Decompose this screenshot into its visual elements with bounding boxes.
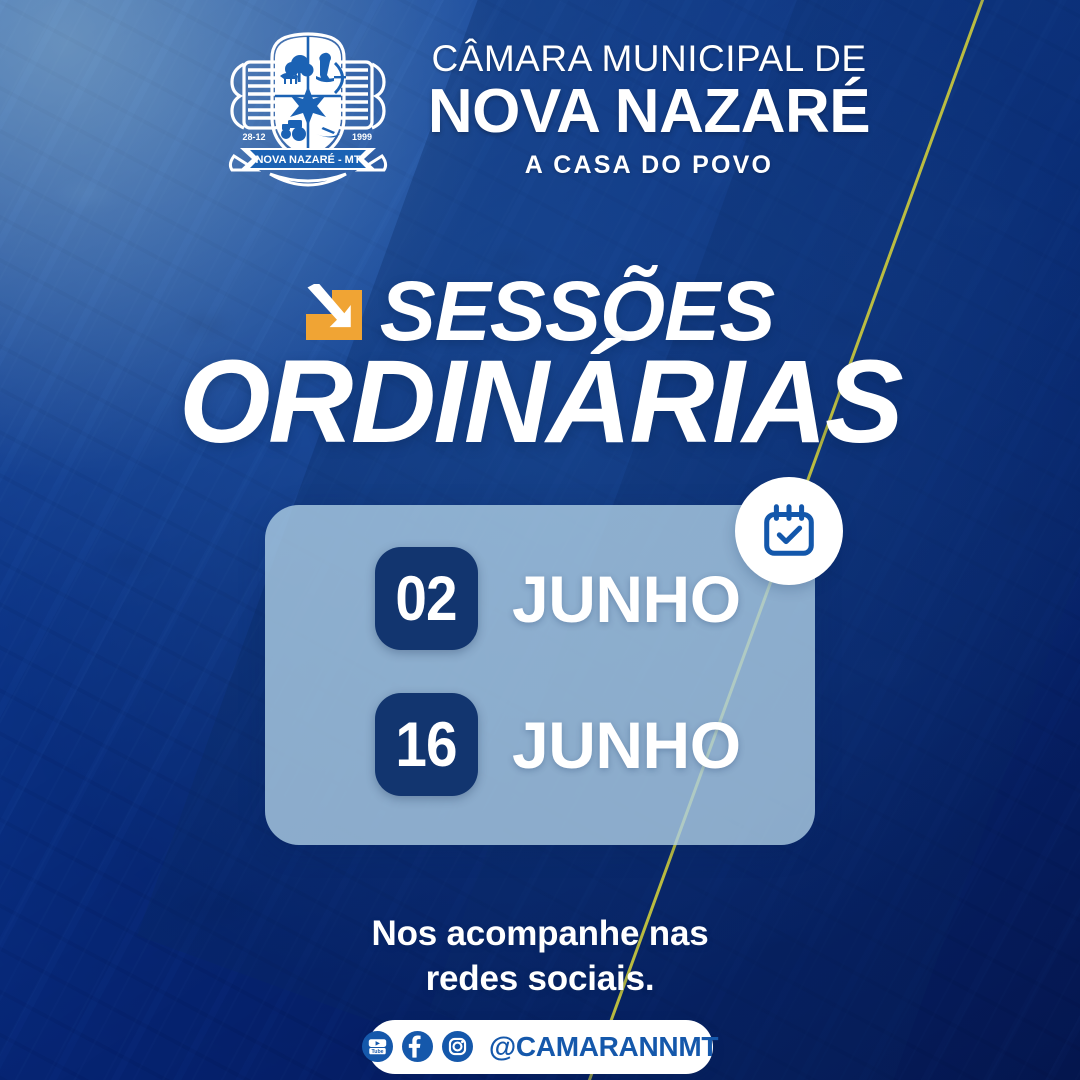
follow-text-line2: redes sociais.: [0, 957, 1080, 1002]
arrow-down-right-icon: [306, 284, 362, 340]
crest-banner-text: NOVA NAZARÉ - MT: [255, 153, 360, 166]
title-block: SESSÕES ORDINÁRIAS: [0, 272, 1080, 456]
month-name: JUNHO: [512, 707, 741, 783]
day-number: 02: [396, 563, 457, 635]
day-number: 16: [396, 709, 457, 781]
header: NOVA NAZARÉ - MT 28-12 1999 CÂMARA MUNIC…: [0, 24, 1080, 194]
month-name: JUNHO: [512, 561, 741, 637]
social-handle-pill[interactable]: Tube @CAMARANNMT: [368, 1020, 713, 1074]
header-line-city: NOVA NAZARÉ: [428, 81, 870, 143]
coat-of-arms-icon: NOVA NAZARÉ - MT 28-12 1999: [210, 24, 406, 194]
day-badge: 16: [375, 693, 478, 796]
youtube-icon[interactable]: Tube: [362, 1031, 393, 1062]
instagram-icon[interactable]: [442, 1031, 473, 1062]
header-line-slogan: A CASA DO POVO: [525, 153, 773, 178]
date-row: 02 JUNHO: [375, 547, 741, 650]
date-row: 16 JUNHO: [375, 693, 741, 796]
title-ordinarias: ORDINÁRIAS: [0, 348, 1080, 457]
facebook-icon[interactable]: [402, 1031, 433, 1062]
dates-card: 02 JUNHO 16 JUNHO: [265, 505, 815, 845]
follow-text-line1: Nos acompanhe nas: [0, 912, 1080, 957]
crest-date-left: 28-12: [242, 132, 265, 142]
header-line-camara: CÂMARA MUNICIPAL DE: [431, 40, 866, 77]
day-badge: 02: [375, 547, 478, 650]
header-text: CÂMARA MUNICIPAL DE NOVA NAZARÉ A CASA D…: [428, 40, 870, 178]
footer: Nos acompanhe nas redes sociais. Tube: [0, 912, 1080, 1074]
crest-date-right: 1999: [352, 132, 372, 142]
poster: NOVA NAZARÉ - MT 28-12 1999 CÂMARA MUNIC…: [0, 0, 1080, 1080]
calendar-check-icon: [735, 477, 843, 585]
social-handle[interactable]: @CAMARANNMT: [489, 1031, 718, 1063]
svg-text:Tube: Tube: [371, 1049, 383, 1055]
